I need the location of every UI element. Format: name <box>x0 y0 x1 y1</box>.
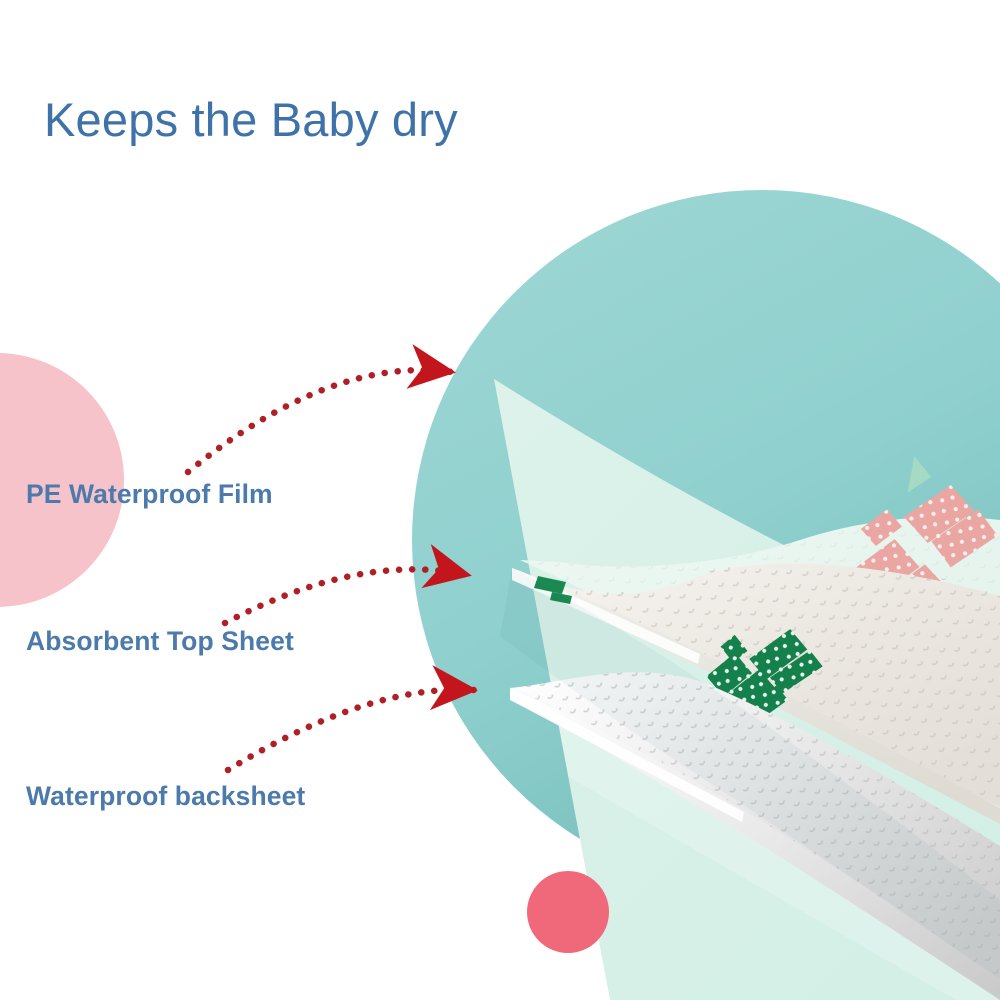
callout-arrow-waterproof-backsheet <box>228 690 474 770</box>
page-title: Keeps the Baby dry <box>44 92 458 147</box>
product-infographic: Keeps the Baby dry PE Waterproof Film Ab… <box>0 0 1000 1000</box>
callout-arrow-pe-waterproof-film <box>188 370 452 472</box>
callout-label-pe-waterproof-film: PE Waterproof Film <box>26 479 273 510</box>
callout-label-waterproof-backsheet: Waterproof backsheet <box>26 781 305 812</box>
coral-circle-icon <box>527 871 609 953</box>
callout-label-absorbent-top-sheet: Absorbent Top Sheet <box>26 626 294 657</box>
